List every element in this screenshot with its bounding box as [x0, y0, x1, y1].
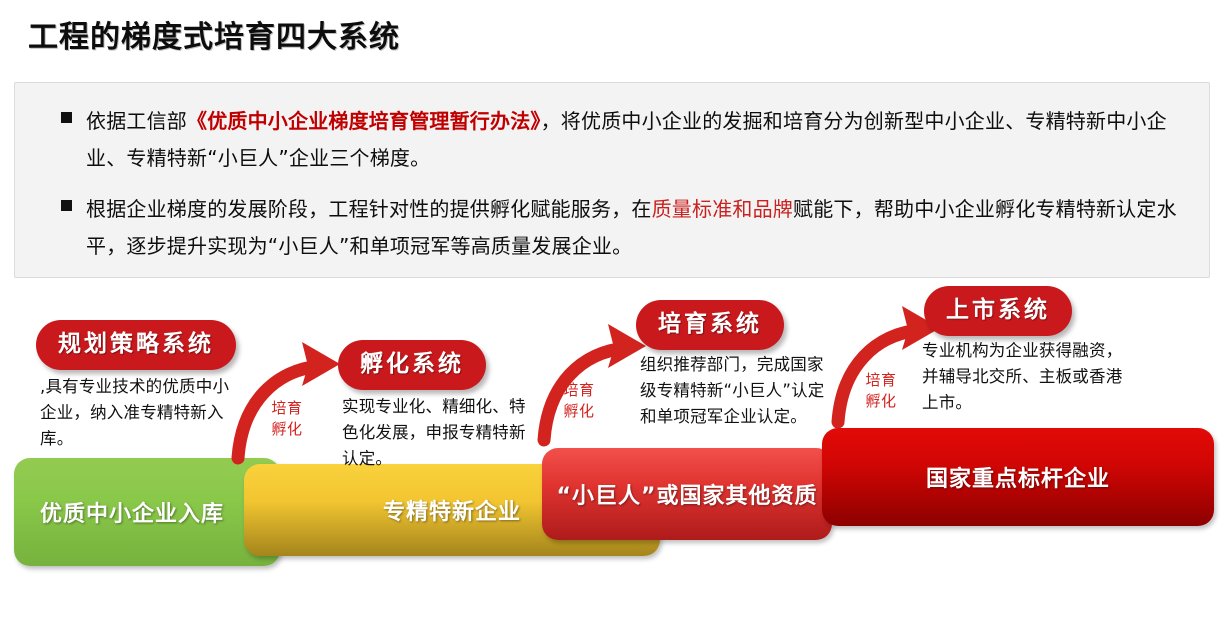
stair-bar-national-benchmark: 国家重点标杆企业	[822, 428, 1214, 526]
bullet-square-icon	[61, 200, 72, 211]
stair-bar-4-label: 国家重点标杆企业	[926, 461, 1110, 493]
intro-bullet-2-text: 根据企业梯度的发展阶段，工程针对性的提供孵化赋能服务，在质量标准和品牌赋能下，帮…	[86, 191, 1191, 265]
stair-bar-2-label: 专精特新企业	[383, 494, 521, 526]
stage-desc-cultivation: 组织推荐部门，完成国家级专精特新“小巨人”认定和单项冠军企业认定。	[640, 352, 826, 430]
arrow-label-2-line2: 孵化	[556, 401, 602, 422]
stage-desc-planning-strategy: ,具有专业技术的优质中小企业，纳入准专精特新入库。	[40, 374, 238, 452]
intro-bullet-1: 依据工信部《优质中小企业梯度培育管理暂行办法》，将优质中小企业的发掘和培育分为创…	[33, 103, 1191, 177]
bullet-1-part-1: 依据工信部	[86, 109, 187, 133]
arrow-label-3-line2: 孵化	[858, 391, 904, 412]
stage-desc-incubation: 实现专业化、精细化、特色化发展，申报专精特新认定。	[342, 394, 542, 472]
stair-bar-3-label: “小巨人”或国家其他资质	[557, 478, 818, 510]
stage-badge-listing[interactable]: 上市系统	[924, 286, 1072, 336]
stage-badge-cultivation[interactable]: 培育系统	[636, 300, 784, 350]
intro-note-box: 依据工信部《优质中小企业梯度培育管理暂行办法》，将优质中小企业的发掘和培育分为创…	[14, 82, 1210, 278]
stage-badge-planning-strategy[interactable]: 规划策略系统	[36, 320, 236, 370]
stage-badge-incubation[interactable]: 孵化系统	[338, 340, 486, 390]
arrow-label-3-line1: 培育	[858, 370, 904, 391]
page-title: 工程的梯度式培育四大系统	[28, 12, 400, 56]
stair-bar-quality-sme: 优质中小企业入库	[14, 458, 280, 566]
arrow-label-2-line1: 培育	[556, 380, 602, 401]
bullet-square-icon	[61, 112, 72, 123]
bullet-2-part-1: 根据企业梯度的发展阶段，工程针对性的提供孵化赋能服务，在	[86, 197, 652, 221]
arrow-label-1-line2: 孵化	[264, 419, 310, 440]
bullet-1-part-2-highlight: 《优质中小企业梯度培育管理暂行办法》	[187, 109, 541, 133]
arrow-label-1-line1: 培育	[264, 398, 310, 419]
stage-desc-listing: 专业机构为企业获得融资，并辅导北交所、主板或香港上市。	[922, 338, 1138, 416]
arrow-label-1: 培育 孵化	[264, 398, 310, 440]
arrow-label-2: 培育 孵化	[556, 380, 602, 422]
intro-bullet-1-text: 依据工信部《优质中小企业梯度培育管理暂行办法》，将优质中小企业的发掘和培育分为创…	[86, 103, 1191, 177]
intro-bullet-2: 根据企业梯度的发展阶段，工程针对性的提供孵化赋能服务，在质量标准和品牌赋能下，帮…	[33, 191, 1191, 265]
bullet-2-part-2-highlight: 质量标准和品牌	[652, 197, 793, 221]
stair-bar-1-label: 优质中小企业入库	[40, 496, 224, 528]
arrow-label-3: 培育 孵化	[858, 370, 904, 412]
gradient-cultivation-diagram: 优质中小企业入库 专精特新企业 “小巨人”或国家其他资质 国家重点标杆企业 培育…	[0, 278, 1228, 622]
stair-bar-little-giant: “小巨人”或国家其他资质	[542, 448, 832, 540]
